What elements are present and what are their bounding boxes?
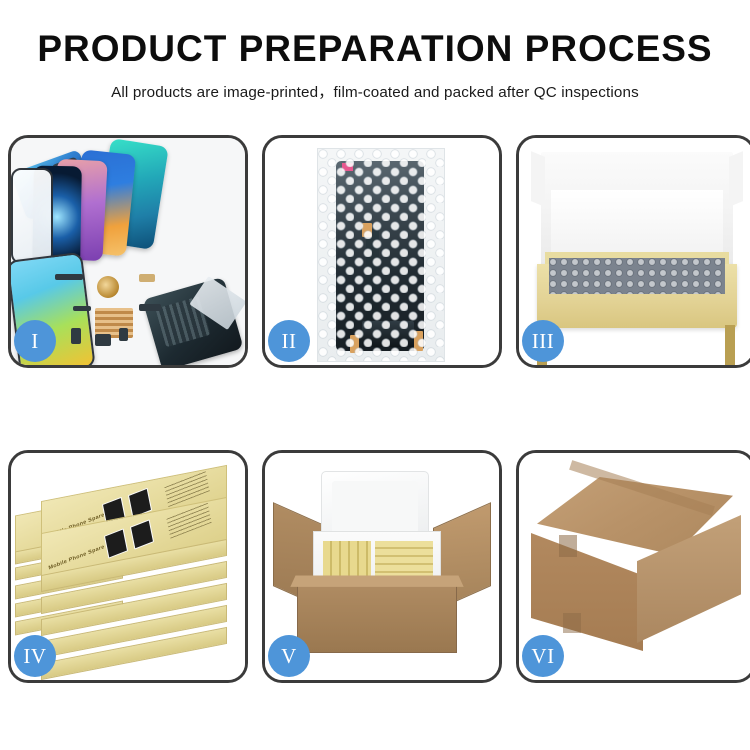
bubble-wrap-bag (317, 148, 445, 362)
process-step-panel-1: I (8, 135, 248, 368)
part-strip-icon (55, 274, 83, 280)
box-corner-right (725, 325, 735, 365)
part-connector-icon (139, 304, 161, 311)
box-thumbnail-3 (104, 528, 128, 558)
step-badge-5: V (268, 635, 310, 677)
process-step-panel-5: V (262, 450, 502, 683)
process-step-panel-3: III (516, 135, 750, 368)
part-bracket-icon (71, 328, 81, 344)
step-badge-2: II (268, 320, 310, 362)
bubble-wrap-contents (549, 258, 725, 294)
process-step-panel-4: Mobile Phone Spare Parts Mobile Phone Sp… (8, 450, 248, 683)
process-step-grid: I II (8, 135, 742, 683)
page-title: PRODUCT PREPARATION PROCESS (0, 30, 750, 69)
box-thumbnail-4 (130, 519, 154, 549)
product-preparation-process-page: PRODUCT PREPARATION PROCESS All products… (0, 0, 750, 750)
process-step-panel-6: VI (516, 450, 750, 683)
carton-tape-tab-bottom (563, 613, 581, 633)
step-badge-1: I (14, 320, 56, 362)
flex-cable-icon (139, 274, 155, 282)
page-header: PRODUCT PREPARATION PROCESS All products… (0, 0, 750, 102)
carton-left-face (531, 533, 643, 651)
carton-tape-tab-top (559, 535, 577, 557)
box-spec-lines-2 (166, 502, 211, 539)
step-badge-6: VI (522, 635, 564, 677)
page-subtitle: All products are image-printed，film-coat… (0, 80, 750, 102)
speaker-coil-icon (97, 276, 119, 298)
carton-front-panel (297, 581, 457, 653)
bubble-texture (318, 149, 444, 361)
part-small-icon (73, 306, 91, 311)
part-camera-icon (95, 334, 111, 346)
step-badge-3: III (522, 320, 564, 362)
part-battery-icon (119, 328, 128, 341)
carton-rim (290, 575, 463, 586)
step-badge-4: IV (14, 635, 56, 677)
process-step-panel-2: II (262, 135, 502, 368)
tempered-glass-icon (11, 168, 53, 264)
